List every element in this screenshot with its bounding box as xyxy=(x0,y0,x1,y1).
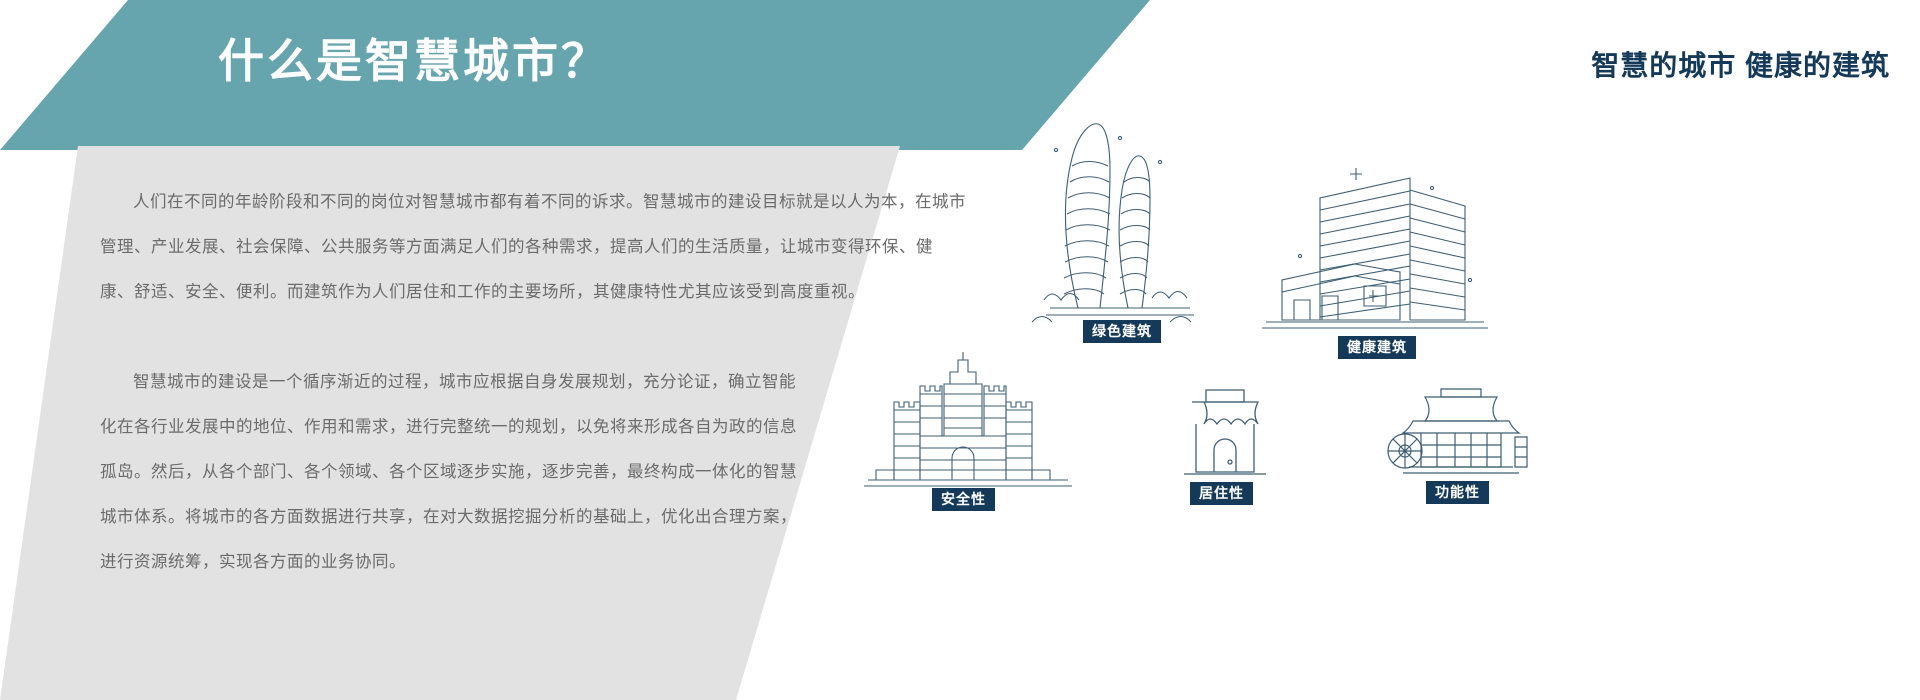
badge-functionality: 功能性 xyxy=(1426,481,1489,504)
pavilion-icon xyxy=(1388,389,1527,473)
badge-green-building: 绿色建筑 xyxy=(1083,320,1161,343)
illustration-health-building: 健康建筑 xyxy=(1260,160,1490,330)
house-icon xyxy=(1184,390,1266,474)
slide-canvas: 什么是智慧城市？ 智慧的城市 健康的建筑 人们在不同的年龄阶段和不同的岗位对智慧… xyxy=(0,0,1920,700)
badge-health-building: 健康建筑 xyxy=(1338,336,1416,359)
paragraph-1-line-2: 管理、产业发展、社会保障、公共服务等方面满足人们的各种需求，提高人们的生活质量，… xyxy=(100,225,860,270)
illustration-green-building: 绿色建筑 xyxy=(1020,110,1210,325)
paragraph-1-line-1: 人们在不同的年龄阶段和不同的岗位对智慧城市都有着不同的诉求。智慧城市的建设目标就… xyxy=(100,180,860,225)
paragraph-2-line-2: 化在各行业发展中的地位、作用和需求，进行完整统一的规划，以免将来形成各自为政的信… xyxy=(100,405,860,450)
badge-livability: 居住性 xyxy=(1190,482,1253,505)
paragraph-2-line-3: 孤岛。然后，从各个部门、各个领域、各个区域逐步实施，逐步完善，最终构成一体化的智… xyxy=(100,450,860,495)
paragraph-1: 人们在不同的年龄阶段和不同的岗位对智慧城市都有着不同的诉求。智慧城市的建设目标就… xyxy=(100,180,860,315)
illustration-functionality: 功能性 xyxy=(1385,375,1535,495)
paragraph-2-line-1: 智慧城市的建设是一个循序渐近的过程，城市应根据自身发展规划，充分论证，确立智能 xyxy=(100,360,860,405)
header-subtitle: 智慧的城市 健康的建筑 xyxy=(1591,44,1890,84)
hospital-tower-icon xyxy=(1262,168,1488,328)
badge-safety: 安全性 xyxy=(932,488,995,511)
page-title: 什么是智慧城市？ xyxy=(218,34,610,89)
paragraph-2-line-4: 城市体系。将城市的各方面数据进行共享，在对大数据挖掘分析的基础上，优化出合理方案… xyxy=(100,495,860,540)
paragraph-2: 智慧城市的建设是一个循序渐近的过程，城市应根据自身发展规划，充分论证，确立智能 … xyxy=(100,360,860,585)
body-text-block: 人们在不同的年龄阶段和不同的岗位对智慧城市都有着不同的诉求。智慧城市的建设目标就… xyxy=(100,180,860,585)
paragraph-2-line-5: 进行资源统筹，实现各方面的业务协同。 xyxy=(100,540,860,585)
illustration-safety: 安全性 xyxy=(860,350,1075,490)
castle-icon xyxy=(864,352,1072,486)
twin-towers-icon xyxy=(1020,110,1210,325)
paragraph-1-line-3: 康、舒适、安全、便利。而建筑作为人们居住和工作的主要场所，其健康特性尤其应该受到… xyxy=(100,270,860,315)
illustration-livability: 居住性 xyxy=(1170,370,1280,495)
illustration-area: 绿色建筑 健康建筑 xyxy=(840,100,1920,700)
